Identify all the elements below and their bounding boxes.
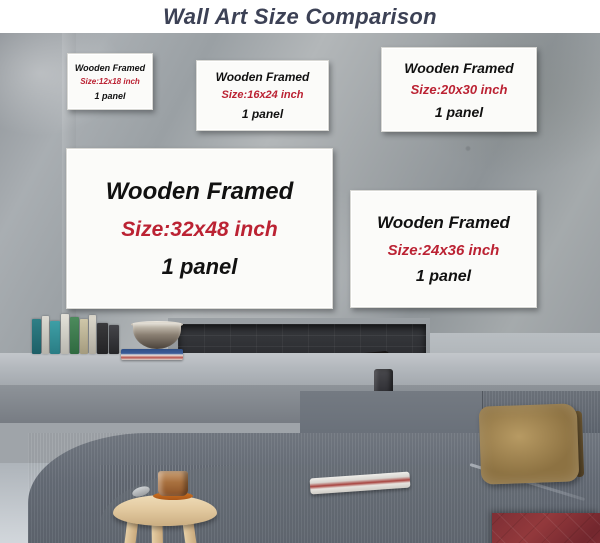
- book: [109, 325, 119, 354]
- title-band: Wall Art Size Comparison: [0, 0, 600, 33]
- frame-size: Size:16x24 inch: [222, 89, 304, 101]
- page-title: Wall Art Size Comparison: [163, 4, 437, 30]
- book: [50, 321, 60, 354]
- frame-panel-count: 1 panel: [242, 107, 283, 121]
- frame-size: Size:12x18 inch: [80, 77, 140, 86]
- frame-title: Wooden Framed: [216, 70, 310, 84]
- frame-title: Wooden Framed: [75, 63, 145, 73]
- book: [97, 323, 108, 354]
- frame-20x30: Wooden Framed Size:20x30 inch 1 panel: [381, 47, 537, 132]
- frame-size: Size:24x36 inch: [388, 242, 500, 259]
- frame-24x36: Wooden Framed Size:24x36 inch 1 panel: [350, 190, 537, 308]
- tan-cushion: [479, 403, 580, 484]
- wall-art-size-comparison-image: Wall Art Size Comparison: [0, 0, 600, 543]
- book: [70, 317, 79, 354]
- room-photo: Wooden Framed Size:12x18 inch 1 panel Wo…: [0, 33, 600, 543]
- frame-size: Size:20x30 inch: [411, 82, 508, 97]
- book: [32, 319, 41, 354]
- frame-panel-count: 1 panel: [162, 254, 238, 280]
- frame-size: Size:32x48 inch: [121, 218, 277, 242]
- frame-title: Wooden Framed: [377, 213, 510, 233]
- frame-12x18: Wooden Framed Size:12x18 inch 1 panel: [67, 53, 153, 110]
- book: [80, 319, 88, 354]
- book: [89, 315, 96, 354]
- frame-32x48: Wooden Framed Size:32x48 inch 1 panel: [66, 148, 333, 309]
- frame-panel-count: 1 panel: [416, 268, 471, 286]
- copper-mug: [158, 471, 188, 496]
- book: [61, 314, 69, 354]
- frame-title: Wooden Framed: [106, 178, 294, 206]
- frame-panel-count: 1 panel: [435, 104, 483, 120]
- frame-title: Wooden Framed: [404, 60, 513, 76]
- frame-16x24: Wooden Framed Size:16x24 inch 1 panel: [196, 60, 329, 131]
- red-blanket: [492, 513, 600, 543]
- book: [42, 316, 49, 354]
- magazine-stack-on-ledge: [121, 349, 183, 360]
- frame-panel-count: 1 panel: [94, 91, 125, 101]
